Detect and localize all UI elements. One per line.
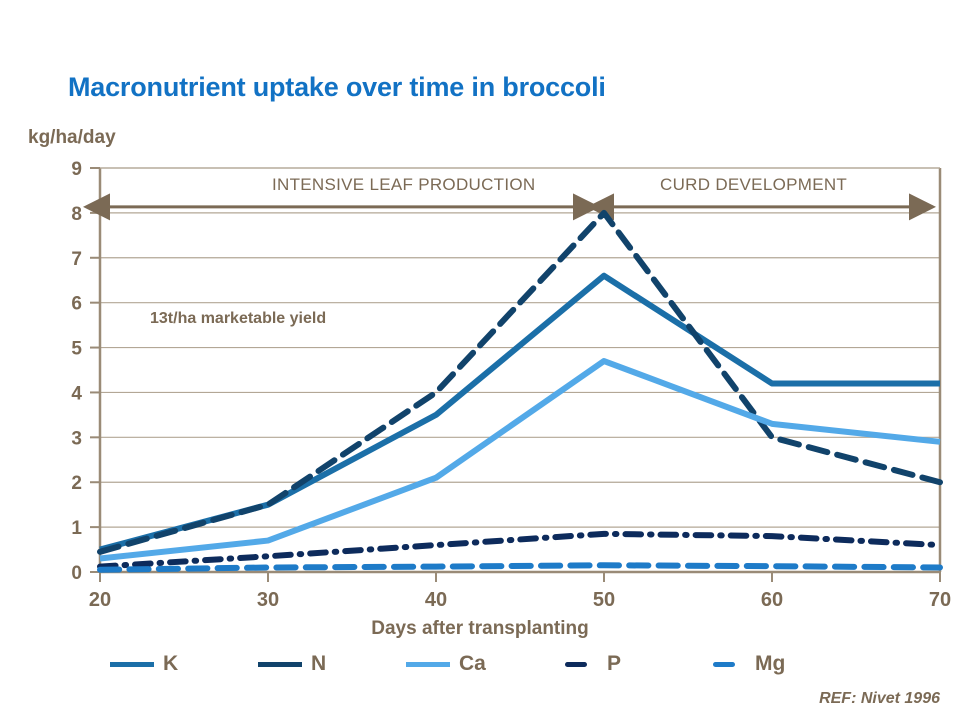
svg-text:70: 70 — [929, 589, 951, 611]
legend-item-Ca[interactable]: Ca — [406, 652, 554, 676]
data-series-group — [100, 213, 940, 570]
svg-text:2: 2 — [71, 473, 82, 494]
phase-label-intensive-leaf-production: INTENSIVE LEAF PRODUCTION — [272, 175, 535, 195]
svg-text:20: 20 — [89, 589, 111, 611]
x-axis-ticks: 203040506070 — [89, 572, 951, 611]
svg-text:7: 7 — [71, 249, 82, 270]
series-line-P — [100, 534, 940, 567]
legend-swatch-Ca-icon — [406, 662, 450, 667]
legend-label-Mg: Mg — [755, 652, 785, 676]
svg-text:5: 5 — [71, 339, 82, 360]
legend-item-Mg[interactable]: Mg — [702, 652, 850, 676]
series-line-Mg — [100, 565, 940, 569]
svg-text:4: 4 — [71, 383, 82, 404]
svg-text:3: 3 — [71, 428, 82, 449]
legend-item-N[interactable]: N — [258, 652, 406, 676]
legend-swatch-Mg-icon — [713, 662, 735, 667]
svg-text:9: 9 — [71, 159, 82, 180]
svg-text:8: 8 — [71, 204, 82, 225]
series-line-Ca — [100, 361, 940, 559]
svg-text:0: 0 — [71, 563, 82, 584]
line-chart-svg: 0123456789 203040506070 — [0, 0, 960, 720]
legend-item-K[interactable]: K — [110, 652, 258, 676]
phase-label-curd-development: CURD DEVELOPMENT — [660, 175, 847, 195]
chart-legend: KNCaPMg — [0, 652, 960, 676]
legend-item-P[interactable]: P — [554, 652, 702, 676]
legend-label-N: N — [311, 652, 326, 676]
legend-label-P: P — [607, 652, 621, 676]
reference-note: REF: Nivet 1996 — [819, 690, 940, 708]
svg-text:60: 60 — [761, 589, 783, 611]
svg-text:50: 50 — [593, 589, 615, 611]
svg-text:1: 1 — [71, 518, 82, 539]
legend-swatch-P-icon — [565, 662, 587, 667]
svg-text:30: 30 — [257, 589, 279, 611]
legend-label-Ca: Ca — [459, 652, 486, 676]
axis-lines — [100, 168, 940, 572]
svg-text:40: 40 — [425, 589, 447, 611]
svg-text:6: 6 — [71, 294, 82, 315]
legend-label-K: K — [163, 652, 178, 676]
legend-swatch-N-icon — [258, 662, 302, 667]
x-axis-title: Days after transplanting — [0, 618, 960, 640]
legend-swatch-K-icon — [110, 662, 154, 667]
y-axis-ticks: 0123456789 — [71, 159, 100, 584]
chart-canvas: Macronutrient uptake over time in brocco… — [0, 0, 960, 720]
annotation-marketable-yield: 13t/ha marketable yield — [150, 310, 326, 328]
